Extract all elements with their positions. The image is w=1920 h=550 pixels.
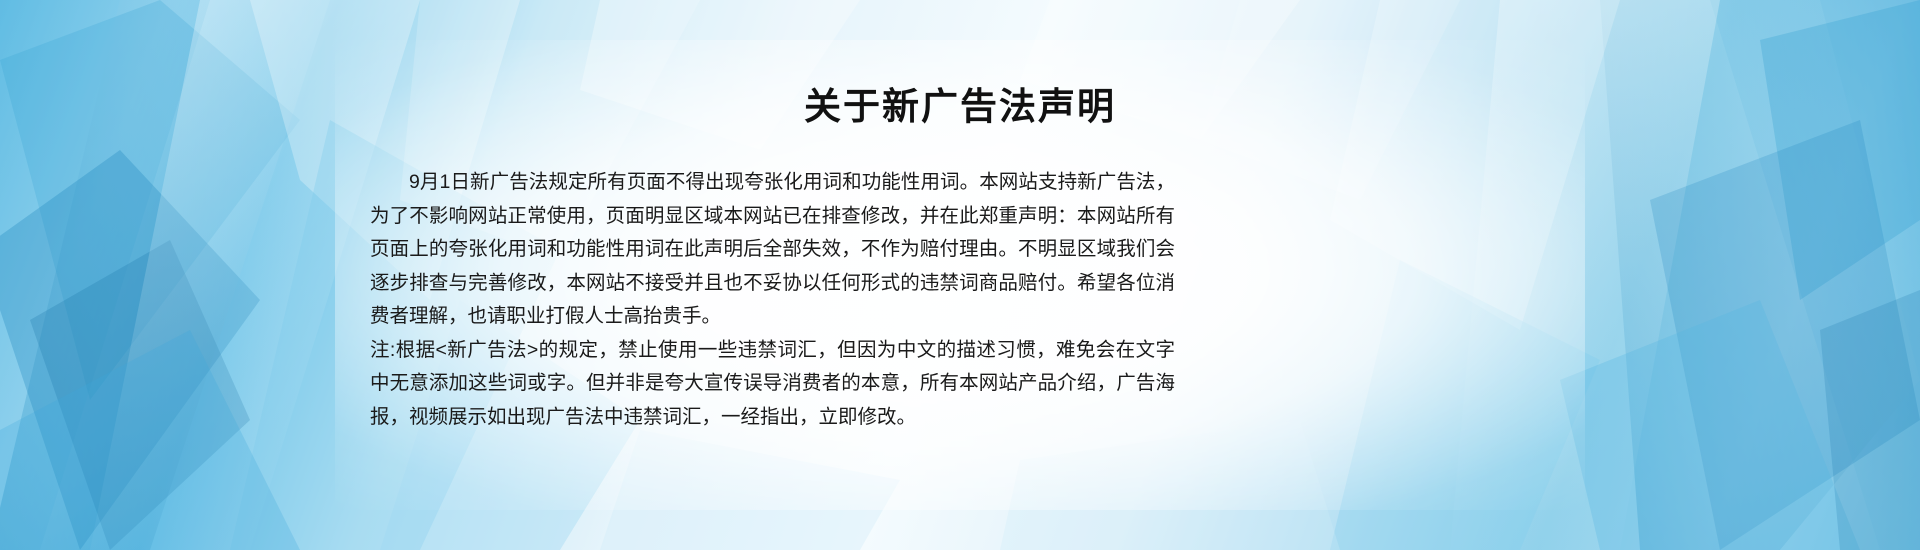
statement-body: 9月1日新广告法规定所有页面不得出现夸张化用词和功能性用词。本网站支持新广告法，… [370, 166, 1175, 434]
statement-paragraph-1: 9月1日新广告法规定所有页面不得出现夸张化用词和功能性用词。本网站支持新广告法，… [370, 166, 1175, 334]
statement-content: 关于新广告法声明 9月1日新广告法规定所有页面不得出现夸张化用词和功能性用词。本… [0, 0, 1920, 550]
advertising-law-statement-banner: 关于新广告法声明 9月1日新广告法规定所有页面不得出现夸张化用词和功能性用词。本… [0, 0, 1920, 550]
statement-paragraph-2: 注:根据<新广告法>的规定，禁止使用一些违禁词汇，但因为中文的描述习惯，难免会在… [370, 334, 1175, 435]
page-title: 关于新广告法声明 [0, 84, 1920, 130]
